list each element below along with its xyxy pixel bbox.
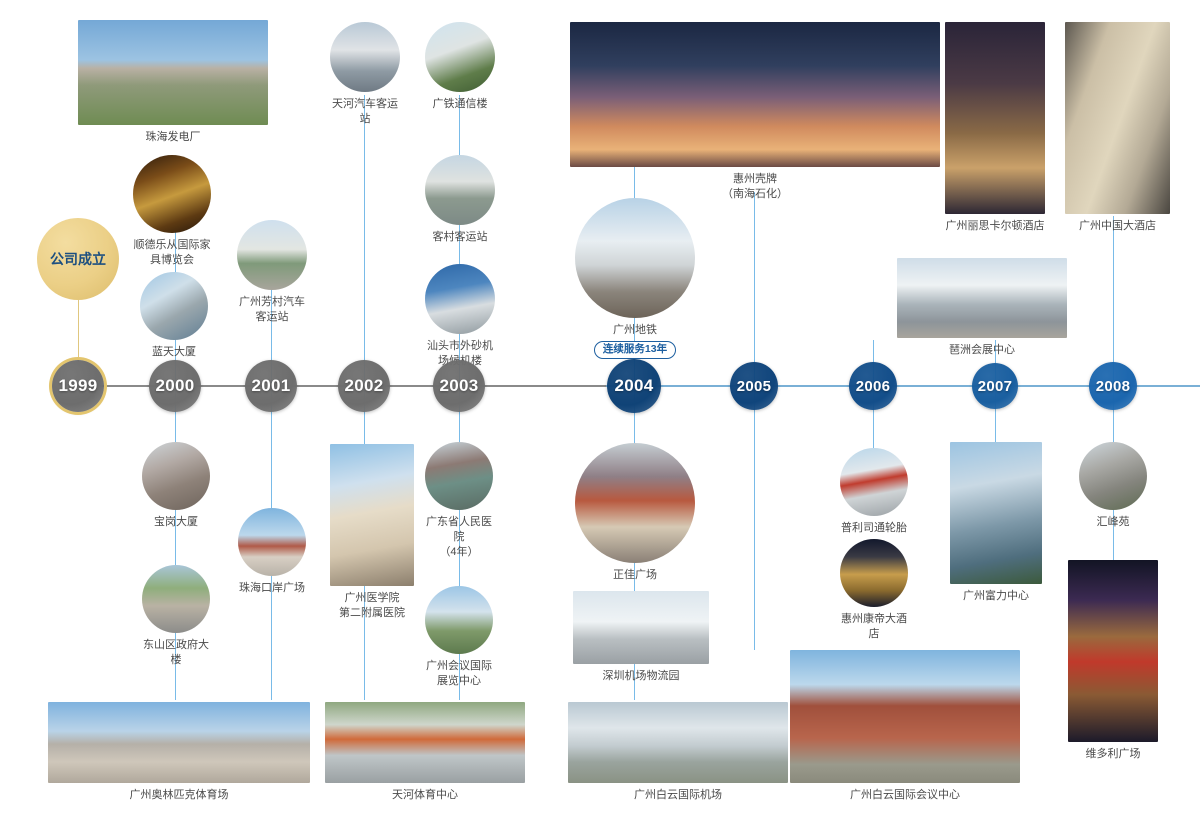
year-node-2002[interactable]: 2002	[338, 360, 390, 412]
timeline-item-tianhe-sports-center[interactable]: 天河体育中心	[325, 702, 525, 803]
timeline-item-huizhou-shell-nanhai[interactable]: 惠州壳牌 （南海石化）	[570, 22, 940, 202]
item-caption: 广州芳村汽车客运站	[237, 295, 307, 325]
ritz-carlton-image	[945, 22, 1045, 214]
item-caption: 顺德乐从国际家具博览会	[133, 238, 211, 268]
timeline-item-zhuhai-port-plaza[interactable]: 珠海口岸广场	[238, 508, 306, 596]
olympic-stadium-image	[48, 702, 310, 783]
kande-hotel-image	[840, 539, 908, 607]
year-node-2000[interactable]: 2000	[149, 360, 201, 412]
year-label: 2008	[1096, 378, 1131, 395]
gd-hospital-image	[425, 442, 493, 510]
bridgestone-image	[840, 448, 908, 516]
year-label: 2005	[737, 378, 772, 395]
timeline-item-gz-rf-center[interactable]: 广州富力中心	[950, 442, 1042, 604]
item-caption: 广州白云国际会议中心	[790, 788, 1020, 803]
item-caption: 广东省人民医院 （4年）	[425, 515, 493, 560]
year-label: 2003	[439, 376, 478, 396]
petrochemical-image	[570, 22, 940, 167]
item-caption: 珠海发电厂	[78, 130, 268, 145]
timeline-item-guangdong-people-hospital[interactable]: 广东省人民医院 （4年）	[425, 442, 493, 560]
year-node-2007[interactable]: 2007	[972, 363, 1018, 409]
item-caption: 东山区政府大楼	[142, 638, 210, 668]
gz-convention-image	[425, 586, 493, 654]
item-caption: 惠州壳牌 （南海石化）	[570, 172, 940, 202]
fangcun-station-image	[237, 220, 307, 290]
item-caption: 广州中国大酒店	[1065, 219, 1170, 234]
item-caption: 广州富力中心	[950, 589, 1042, 604]
timeline-item-gz-ritz-carlton-hotel[interactable]: 广州丽思卡尔顿酒店	[945, 22, 1045, 234]
timeline-item-huifeng-yuan[interactable]: 汇峰苑	[1079, 442, 1147, 530]
year-label: 2006	[856, 378, 891, 395]
tianhe-sports-image	[325, 702, 525, 783]
item-caption: 深圳机场物流园	[573, 669, 709, 684]
timeline-item-gz-china-hotel[interactable]: 广州中国大酒店	[1065, 22, 1170, 234]
tianhe-station-image	[330, 22, 400, 92]
timeline-item-shunde-furniture-expo[interactable]: 顺德乐从国际家具博览会	[133, 155, 211, 268]
timeline-item-guangtie-telecom-building[interactable]: 广铁通信楼	[425, 22, 495, 112]
timeline-item-huizhou-kande-hotel[interactable]: 惠州康帝大酒店	[840, 539, 908, 642]
baiyun-airport-image	[568, 702, 788, 783]
kecun-station-image	[425, 155, 495, 225]
item-caption: 广铁通信楼	[425, 97, 495, 112]
year-label: 2002	[344, 376, 383, 396]
year-node-1999[interactable]: 1999	[52, 360, 104, 412]
gz-hospital-image	[330, 444, 414, 586]
sz-logistics-image	[573, 591, 709, 664]
shantou-terminal-image	[425, 264, 495, 334]
timeline-item-guangzhou-metro[interactable]: 广州地铁连续服务13年	[575, 198, 695, 359]
item-caption: 珠海口岸广场	[238, 581, 306, 596]
item-caption: 惠州康帝大酒店	[840, 612, 908, 642]
year-node-2005[interactable]: 2005	[730, 362, 778, 410]
dongshan-gov-image	[142, 565, 210, 633]
year-node-2004[interactable]: 2004	[607, 359, 661, 413]
item-caption: 广州丽思卡尔顿酒店	[945, 219, 1045, 234]
metro-train-image	[575, 198, 695, 318]
item-caption: 天河汽车客运站	[330, 97, 400, 127]
timeline-item-gz-olympic-stadium[interactable]: 广州奥林匹克体育场	[48, 702, 310, 803]
item-caption: 广州医学院 第二附属医院	[330, 591, 414, 621]
connector-line	[754, 386, 755, 650]
power-plant-image	[78, 20, 268, 125]
timeline-item-guangzhou-fangcun-bus-stn[interactable]: 广州芳村汽车客运站	[237, 220, 307, 325]
timeline-item-grandview-mall[interactable]: 正佳广场	[575, 443, 695, 583]
item-caption: 广州白云国际机场	[568, 788, 788, 803]
timeline-item-shantou-waisha-terminal[interactable]: 汕头市外砂机场候机楼	[425, 264, 495, 369]
grandview-mall-image	[575, 443, 695, 563]
founding-badge: 公司成立	[37, 218, 119, 300]
service-duration-badge: 连续服务13年	[594, 341, 676, 360]
founding-label: 公司成立	[50, 249, 106, 269]
item-caption: 蓝天大厦	[140, 345, 208, 360]
pazhou-center-image	[897, 258, 1067, 338]
furniture-expo-image	[133, 155, 211, 233]
connector-line	[754, 192, 755, 386]
item-caption: 普利司通轮胎	[840, 521, 908, 536]
item-caption: 维多利广场	[1068, 747, 1158, 762]
item-caption: 广州会议国际展览中心	[425, 659, 493, 689]
rf-center-image	[950, 442, 1042, 584]
connector-line	[1113, 216, 1114, 386]
timeline-item-gz-medical-2nd-hospital[interactable]: 广州医学院 第二附属医院	[330, 444, 414, 621]
timeline-item-kecun-bus-station[interactable]: 客村客运站	[425, 155, 495, 245]
timeline-item-lantian-building[interactable]: 蓝天大厦	[140, 272, 208, 360]
year-label: 2004	[614, 376, 653, 396]
item-caption: 正佳广场	[575, 568, 695, 583]
year-label: 1999	[58, 376, 97, 396]
connector-line	[364, 95, 365, 386]
timeline-item-gz-intl-convention-center[interactable]: 广州会议国际展览中心	[425, 586, 493, 689]
year-node-2003[interactable]: 2003	[433, 360, 485, 412]
year-label: 2000	[155, 376, 194, 396]
timeline-item-pazhou-exhibition-center[interactable]: 琶洲会展中心	[897, 258, 1067, 358]
item-caption: 天河体育中心	[325, 788, 525, 803]
year-node-2008[interactable]: 2008	[1089, 362, 1137, 410]
baogang-tower-image	[142, 442, 210, 510]
baiyun-convention-image	[790, 650, 1020, 783]
timeline-item-shenzhen-airport-logistics[interactable]: 深圳机场物流园	[573, 591, 709, 684]
item-caption: 琶洲会展中心	[897, 343, 1067, 358]
victory-plaza-image	[1068, 560, 1158, 742]
zhuhai-plaza-image	[238, 508, 306, 576]
timeline-item-baogang-building[interactable]: 宝岗大厦	[142, 442, 210, 530]
timeline-infographic: 公司成立 19992000200120022003200420052006200…	[0, 0, 1200, 814]
timeline-item-zhuhai-power-plant[interactable]: 珠海发电厂	[78, 20, 268, 145]
timeline-item-dongshan-gov-building[interactable]: 东山区政府大楼	[142, 565, 210, 668]
guangtie-tower-image	[425, 22, 495, 92]
item-caption: 汇峰苑	[1079, 515, 1147, 530]
item-caption: 宝岗大厦	[142, 515, 210, 530]
huifeng-yuan-image	[1079, 442, 1147, 510]
china-hotel-image	[1065, 22, 1170, 214]
timeline-item-victory-plaza[interactable]: 维多利广场	[1068, 560, 1158, 762]
year-label: 2007	[978, 378, 1013, 395]
item-caption: 广州地铁	[575, 323, 695, 338]
lantian-tower-image	[140, 272, 208, 340]
timeline-item-gz-baiyun-intl-conv-center[interactable]: 广州白云国际会议中心	[790, 650, 1020, 803]
timeline-item-tianhe-bus-station[interactable]: 天河汽车客运站	[330, 22, 400, 127]
year-node-2006[interactable]: 2006	[849, 362, 897, 410]
item-caption: 客村客运站	[425, 230, 495, 245]
year-label: 2001	[251, 376, 290, 396]
item-caption: 广州奥林匹克体育场	[48, 788, 310, 803]
timeline-item-gz-baiyun-intl-airport[interactable]: 广州白云国际机场	[568, 702, 788, 803]
founding-stem	[78, 300, 79, 362]
timeline-item-bridgestone-tire[interactable]: 普利司通轮胎	[840, 448, 908, 536]
year-node-2001[interactable]: 2001	[245, 360, 297, 412]
